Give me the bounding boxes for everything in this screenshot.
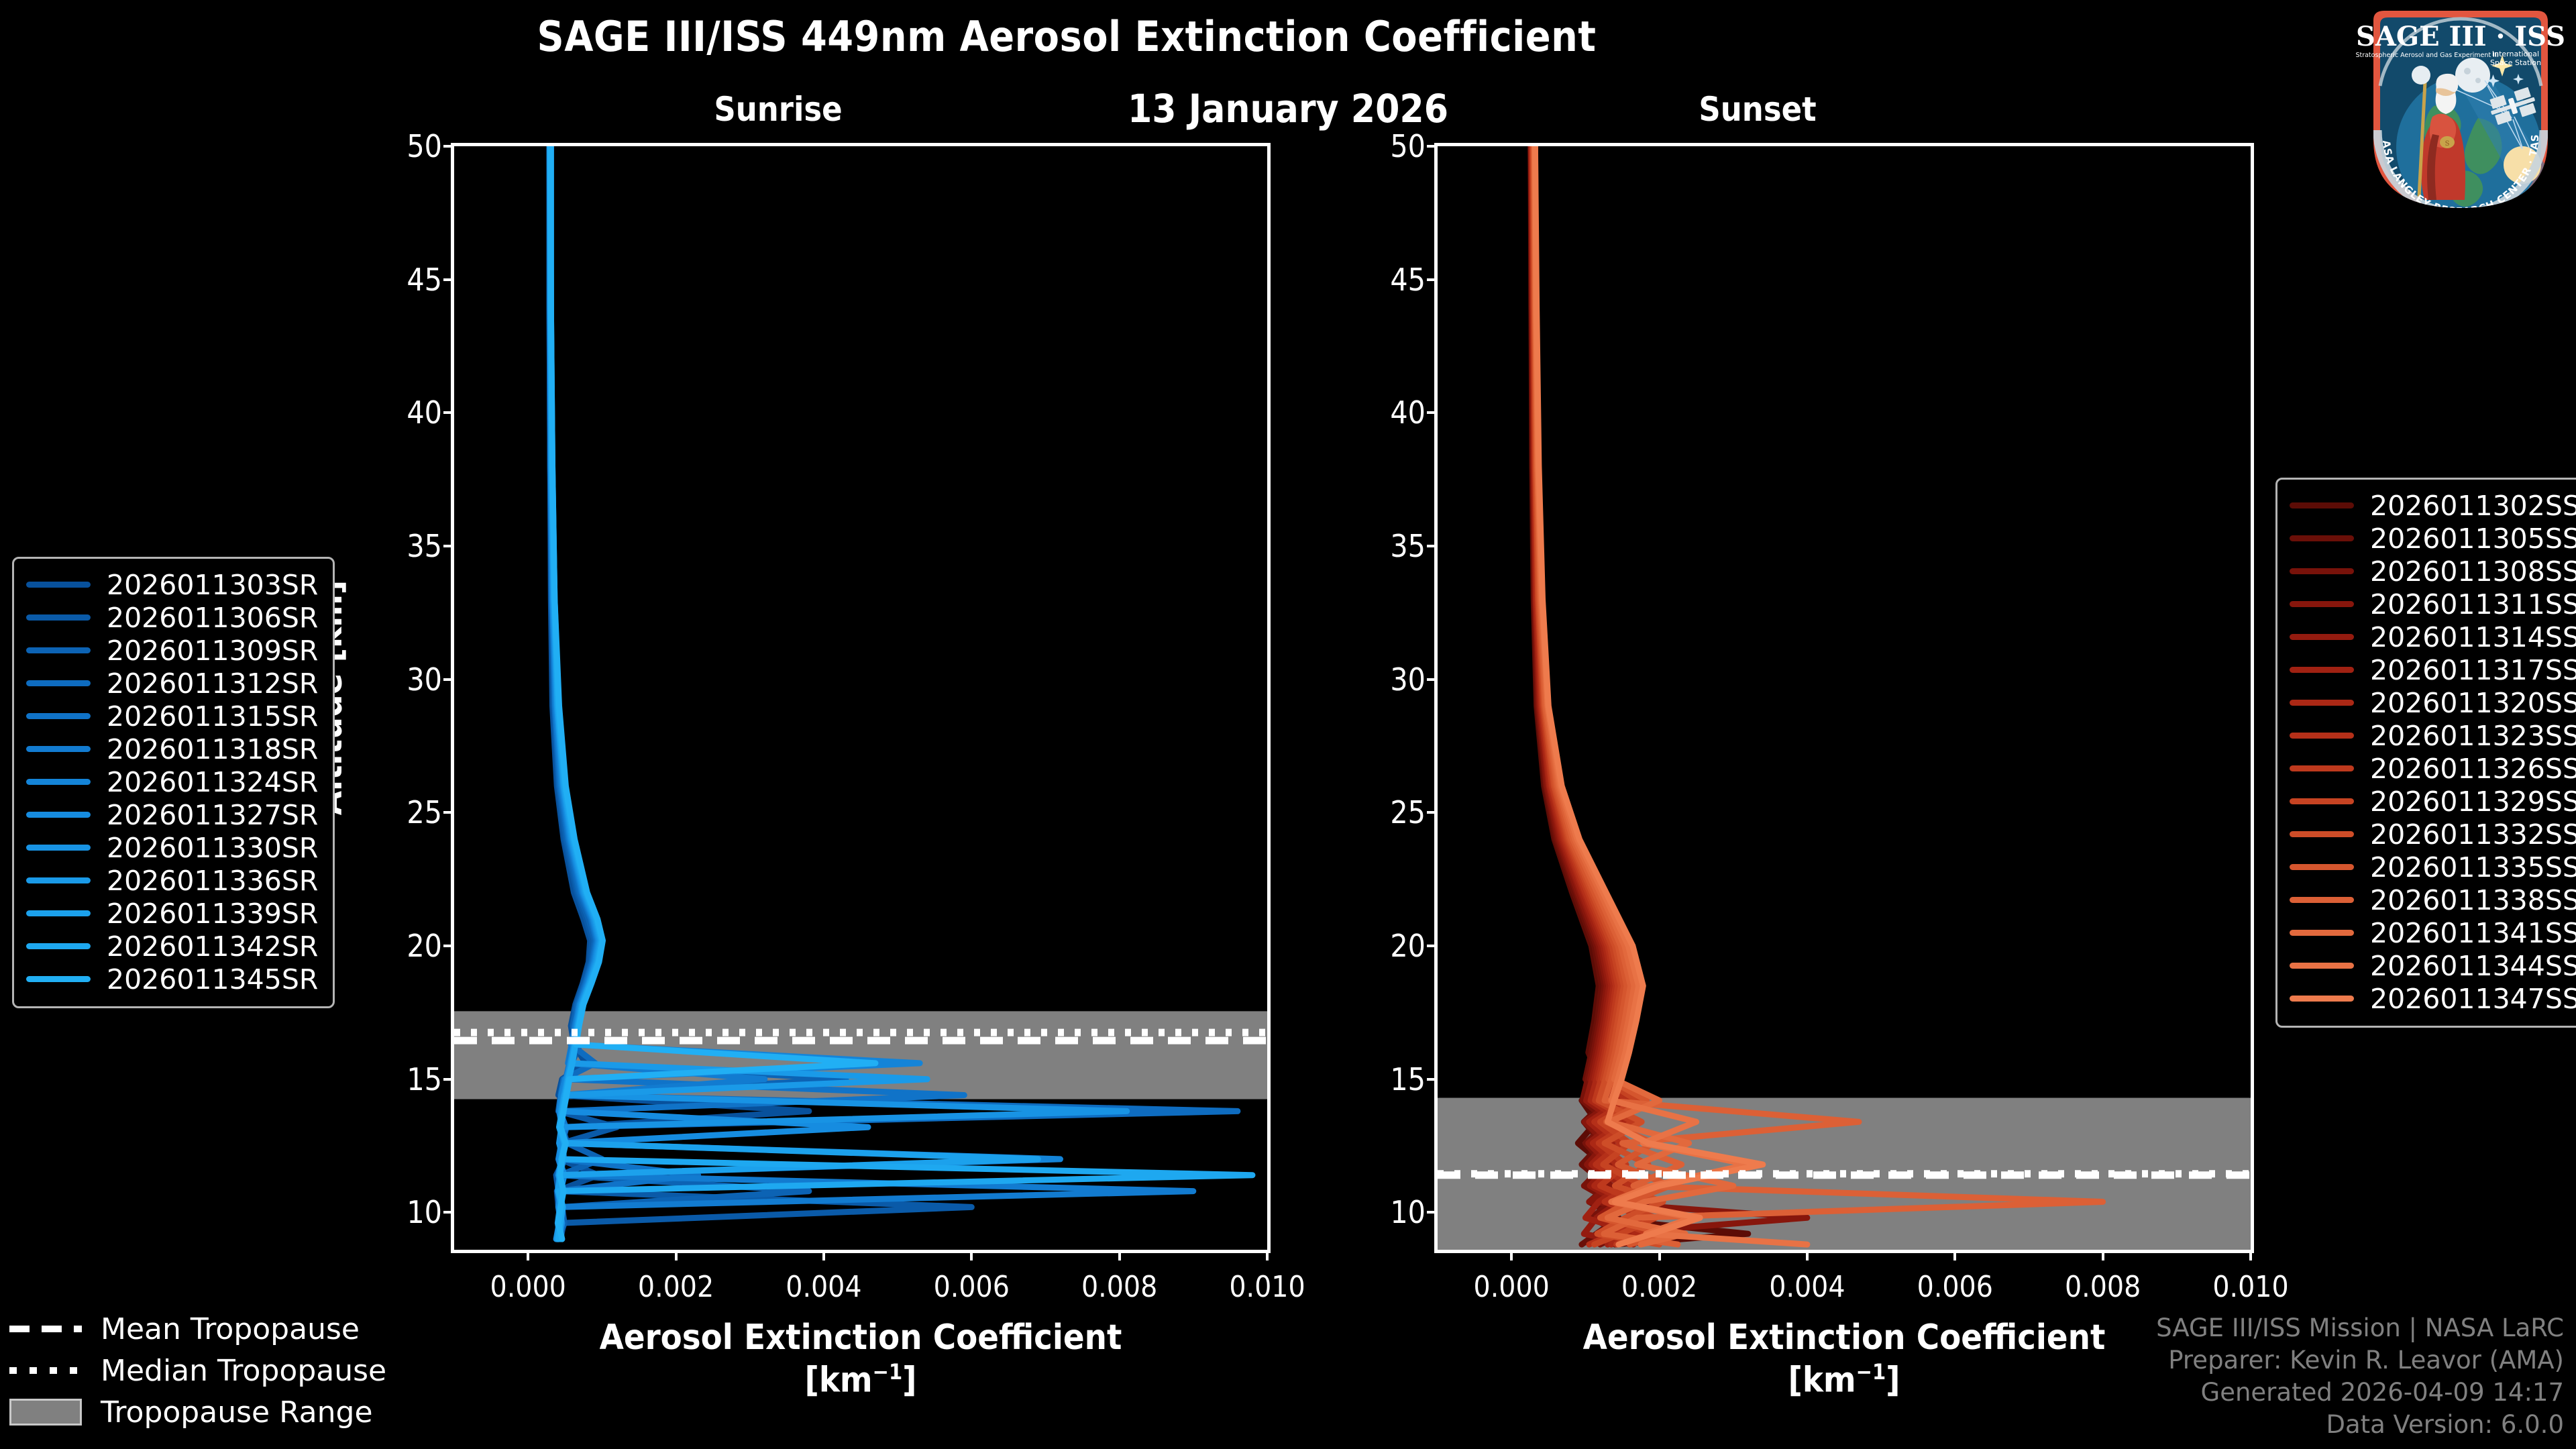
legend-item-2026011342SR[interactable]: 2026011342SR	[26, 930, 318, 963]
y-tick-mark	[1427, 1078, 1438, 1081]
x-tick-mark	[970, 1250, 973, 1260]
series-line-icon	[26, 680, 91, 686]
sunset-panel-title: Sunset	[1583, 90, 1932, 129]
x-tick-mark	[1266, 1250, 1269, 1260]
legend-label: 2026011302SS	[2370, 490, 2576, 522]
y-tick-label: 25	[1390, 794, 1426, 830]
x-tick-label: 0.006	[934, 1270, 1010, 1304]
series-line-icon	[2290, 502, 2354, 508]
legend-label: 2026011315SR	[107, 700, 318, 733]
logo-subtitle-right-2: Space Station	[2490, 58, 2541, 67]
y-tick-mark	[443, 145, 454, 148]
y-tick-mark	[1427, 811, 1438, 814]
y-tick-label: 50	[1390, 128, 1426, 164]
legend-label: 2026011341SS	[2370, 917, 2576, 949]
y-tick-mark	[1427, 945, 1438, 947]
tropopause-range-swatch-icon	[9, 1399, 82, 1426]
y-tick-mark	[1427, 678, 1438, 681]
y-tick-label: 25	[407, 794, 442, 830]
credit-line: Generated 2026-04-09 14:17	[2156, 1377, 2564, 1409]
y-tick-mark	[443, 811, 454, 814]
x-tick-mark	[1510, 1250, 1513, 1260]
y-tick-label: 40	[407, 394, 442, 431]
x-tick-mark	[675, 1250, 678, 1260]
credit-line: SAGE III/ISS Mission | NASA LaRC	[2156, 1312, 2564, 1344]
series-line-icon	[26, 845, 91, 851]
x-tick-label: 0.008	[1081, 1270, 1157, 1304]
series-line-icon	[26, 812, 91, 818]
series-line-icon	[2290, 864, 2354, 870]
legend-item-2026011309SR[interactable]: 2026011309SR	[26, 634, 318, 667]
y-tick-label: 35	[1390, 528, 1426, 564]
legend-label: 2026011329SS	[2370, 786, 2576, 818]
series-line-icon	[2290, 897, 2354, 903]
series-line	[1534, 146, 1733, 1244]
series-line-icon	[2290, 996, 2354, 1002]
y-tick-mark	[443, 411, 454, 414]
y-tick-mark	[1427, 1211, 1438, 1214]
legend-item-2026011314SS[interactable]: 2026011314SS	[2290, 621, 2576, 653]
series-line-icon	[26, 582, 91, 588]
legend-item-2026011345SR[interactable]: 2026011345SR	[26, 963, 318, 996]
x-axis-title-sunset: Aerosol Extinction Coefficient [km−1]	[1438, 1317, 2251, 1402]
y-tick-label: 35	[407, 528, 442, 564]
legend-label: 2026011330SR	[107, 832, 318, 864]
legend-sunrise[interactable]: 2026011303SR2026011306SR2026011309SR2026…	[12, 557, 335, 1008]
x-tick-label: 0.004	[1769, 1270, 1845, 1304]
y-tick-label: 20	[1390, 928, 1426, 964]
legend-item-2026011344SS[interactable]: 2026011344SS	[2290, 949, 2576, 982]
y-tick-mark	[443, 278, 454, 281]
y-tick-label: 15	[407, 1061, 442, 1097]
y-tick-label: 45	[407, 262, 442, 298]
series-line-icon	[2290, 601, 2354, 607]
plot-area-sunset	[1438, 146, 2251, 1250]
x-tick-label: 0.000	[490, 1270, 566, 1304]
credit-line: Preparer: Kevin R. Leavor (AMA)	[2156, 1344, 2564, 1377]
legend-label: 2026011335SS	[2370, 851, 2576, 883]
page-title: SAGE III/ISS 449nm Aerosol Extinction Co…	[0, 12, 2133, 61]
y-tick-mark	[443, 1078, 454, 1081]
legend-label: Median Tropopause	[101, 1354, 386, 1388]
y-tick-label: 40	[1390, 394, 1426, 431]
legend-label: 2026011317SS	[2370, 654, 2576, 686]
legend-item-2026011308SS[interactable]: 2026011308SS	[2290, 555, 2576, 588]
x-tick-label: 0.002	[1621, 1270, 1697, 1304]
legend-item-2026011323SS[interactable]: 2026011323SS	[2290, 719, 2576, 752]
series-line-icon	[26, 779, 91, 785]
y-tick-mark	[443, 678, 454, 681]
legend-item-2026011332SS[interactable]: 2026011332SS	[2290, 818, 2576, 851]
legend-item-2026011336SR[interactable]: 2026011336SR	[26, 864, 318, 897]
legend-label: 2026011344SS	[2370, 950, 2576, 982]
plot-area-sunrise	[454, 146, 1267, 1250]
series-line	[1535, 146, 1762, 1244]
plot-panel-sunrise: Aerosol Extinction Coefficient [km−1] 10…	[451, 143, 1271, 1253]
legend-item-2026011312SR[interactable]: 2026011312SR	[26, 667, 318, 700]
legend-item-2026011339SR[interactable]: 2026011339SR	[26, 897, 318, 930]
legend-tropopause: Mean Tropopause Median Tropopause Tropop…	[9, 1308, 386, 1433]
x-tick-mark	[527, 1250, 529, 1260]
y-tick-mark	[1427, 545, 1438, 547]
legend-item-2026011329SS[interactable]: 2026011329SS	[2290, 785, 2576, 818]
y-tick-label: 45	[1390, 262, 1426, 298]
series-line-icon	[26, 713, 91, 719]
legend-item-2026011311SS[interactable]: 2026011311SS	[2290, 588, 2576, 621]
legend-label: 2026011308SS	[2370, 555, 2576, 588]
legend-label: 2026011327SR	[107, 799, 318, 831]
legend-item-2026011347SS[interactable]: 2026011347SS	[2290, 982, 2576, 1015]
legend-item-2026011338SS[interactable]: 2026011338SS	[2290, 883, 2576, 916]
series-line-icon	[2290, 667, 2354, 673]
legend-label: 2026011332SS	[2370, 818, 2576, 851]
y-tick-label: 30	[1390, 661, 1426, 698]
legend-label: 2026011303SR	[107, 569, 318, 601]
series-line-icon	[2290, 568, 2354, 574]
credit-line: Data Version: 6.0.0	[2156, 1409, 2564, 1441]
logo-title: SAGE III · ISS	[2356, 21, 2565, 52]
x-axis-title-sunrise: Aerosol Extinction Coefficient [km−1]	[454, 1317, 1267, 1402]
x-tick-label: 0.008	[2065, 1270, 2141, 1304]
legend-label: 2026011311SS	[2370, 588, 2576, 621]
legend-label: 2026011338SS	[2370, 884, 2576, 916]
legend-sunset[interactable]: 2026011302SS2026011305SS2026011308SS2026…	[2275, 478, 2576, 1028]
legend-item-2026011324SR[interactable]: 2026011324SR	[26, 765, 318, 798]
legend-item-tropopause-range: Tropopause Range	[9, 1391, 386, 1433]
x-tick-label: 0.000	[1474, 1270, 1550, 1304]
logo-subtitle-left: Stratospheric Aerosol and Gas Experiment…	[2355, 52, 2498, 59]
legend-label: 2026011306SR	[107, 602, 318, 634]
legend-label: 2026011326SS	[2370, 753, 2576, 785]
series-line-icon	[2290, 535, 2354, 541]
x-tick-mark	[2102, 1250, 2104, 1260]
legend-label: 2026011347SS	[2370, 983, 2576, 1015]
sunrise-panel-title: Sunrise	[604, 90, 953, 129]
legend-label: 2026011318SR	[107, 733, 318, 765]
legend-label: Tropopause Range	[101, 1395, 373, 1430]
median-tropopause-line-icon	[9, 1367, 82, 1374]
y-tick-mark	[1427, 278, 1438, 281]
legend-item-2026011318SR[interactable]: 2026011318SR	[26, 733, 318, 765]
x-tick-label: 0.004	[786, 1270, 861, 1304]
legend-label: 2026011345SR	[107, 963, 318, 996]
series-line-icon	[2290, 798, 2354, 804]
legend-label: Mean Tropopause	[101, 1312, 360, 1346]
series-line-icon	[2290, 831, 2354, 837]
x-tick-mark	[1118, 1250, 1121, 1260]
y-tick-label: 15	[1390, 1061, 1426, 1097]
y-tick-label: 10	[1390, 1194, 1426, 1230]
y-tick-mark	[443, 945, 454, 947]
x-tick-label: 0.010	[2212, 1270, 2288, 1304]
legend-item-median-tropopause: Median Tropopause	[9, 1350, 386, 1391]
series-line-icon	[26, 943, 91, 949]
legend-label: 2026011305SS	[2370, 523, 2576, 555]
credits-block: SAGE III/ISS Mission | NASA LaRC Prepare…	[2156, 1312, 2564, 1441]
svg-text:S: S	[2445, 140, 2450, 148]
legend-label: 2026011336SR	[107, 865, 318, 897]
x-tick-mark	[1806, 1250, 1809, 1260]
legend-item-2026011326SS[interactable]: 2026011326SS	[2290, 752, 2576, 785]
y-tick-label: 30	[407, 661, 442, 698]
plot-panel-sunset: Aerosol Extinction Coefficient [km−1] 10…	[1434, 143, 2254, 1253]
series-line-icon	[26, 746, 91, 752]
series-line	[1535, 146, 1807, 1244]
series-line-icon	[26, 647, 91, 653]
legend-label: 2026011339SR	[107, 898, 318, 930]
y-tick-mark	[443, 1211, 454, 1214]
sage-iii-iss-logo: S BALL · NASA LANGLEY RESEARCH CENTER · …	[2353, 5, 2568, 213]
legend-label: 2026011323SS	[2370, 720, 2576, 752]
series-line-icon	[2290, 765, 2354, 771]
legend-item-2026011303SR[interactable]: 2026011303SR	[26, 568, 318, 601]
legend-item-2026011335SS[interactable]: 2026011335SS	[2290, 851, 2576, 883]
legend-label: 2026011312SR	[107, 667, 318, 700]
series-line-icon	[26, 877, 91, 883]
date-subtitle: 13 January 2026	[0, 86, 2576, 131]
legend-label: 2026011309SR	[107, 635, 318, 667]
legend-item-2026011341SS[interactable]: 2026011341SS	[2290, 916, 2576, 949]
legend-item-2026011320SS[interactable]: 2026011320SS	[2290, 686, 2576, 719]
series-line-icon	[26, 910, 91, 916]
x-tick-label: 0.010	[1229, 1270, 1305, 1304]
legend-item-2026011330SR[interactable]: 2026011330SR	[26, 831, 318, 864]
y-tick-mark	[443, 545, 454, 547]
legend-item-2026011305SS[interactable]: 2026011305SS	[2290, 522, 2576, 555]
y-tick-label: 10	[407, 1194, 442, 1230]
y-tick-label: 20	[407, 928, 442, 964]
y-tick-mark	[1427, 145, 1438, 148]
series-line-icon	[2290, 700, 2354, 706]
legend-label: 2026011324SR	[107, 766, 318, 798]
legend-item-2026011302SS[interactable]: 2026011302SS	[2290, 489, 2576, 522]
x-tick-mark	[1658, 1250, 1661, 1260]
legend-item-2026011306SR[interactable]: 2026011306SR	[26, 601, 318, 634]
y-tick-label: 50	[407, 128, 442, 164]
logo-subtitle-right-1: International	[2492, 50, 2539, 58]
series-line-icon	[2290, 930, 2354, 936]
series-line-icon	[2290, 634, 2354, 640]
series-line-icon	[2290, 963, 2354, 969]
legend-item-2026011317SS[interactable]: 2026011317SS	[2290, 653, 2576, 686]
series-line-icon	[26, 614, 91, 621]
legend-label: 2026011320SS	[2370, 687, 2576, 719]
mean-tropopause-line-icon	[9, 1326, 82, 1332]
x-tick-mark	[822, 1250, 825, 1260]
x-tick-mark	[2249, 1250, 2252, 1260]
legend-item-2026011315SR[interactable]: 2026011315SR	[26, 700, 318, 733]
series-line-icon	[26, 976, 91, 982]
x-tick-label: 0.006	[1917, 1270, 1993, 1304]
x-tick-mark	[1953, 1250, 1956, 1260]
legend-label: 2026011314SS	[2370, 621, 2576, 653]
series-line	[1531, 146, 1748, 1244]
x-tick-label: 0.002	[638, 1270, 714, 1304]
legend-label: 2026011342SR	[107, 930, 318, 963]
series-line-icon	[2290, 733, 2354, 739]
series-line	[1532, 146, 1807, 1244]
legend-item-mean-tropopause: Mean Tropopause	[9, 1308, 386, 1350]
legend-item-2026011327SR[interactable]: 2026011327SR	[26, 798, 318, 831]
y-tick-mark	[1427, 411, 1438, 414]
